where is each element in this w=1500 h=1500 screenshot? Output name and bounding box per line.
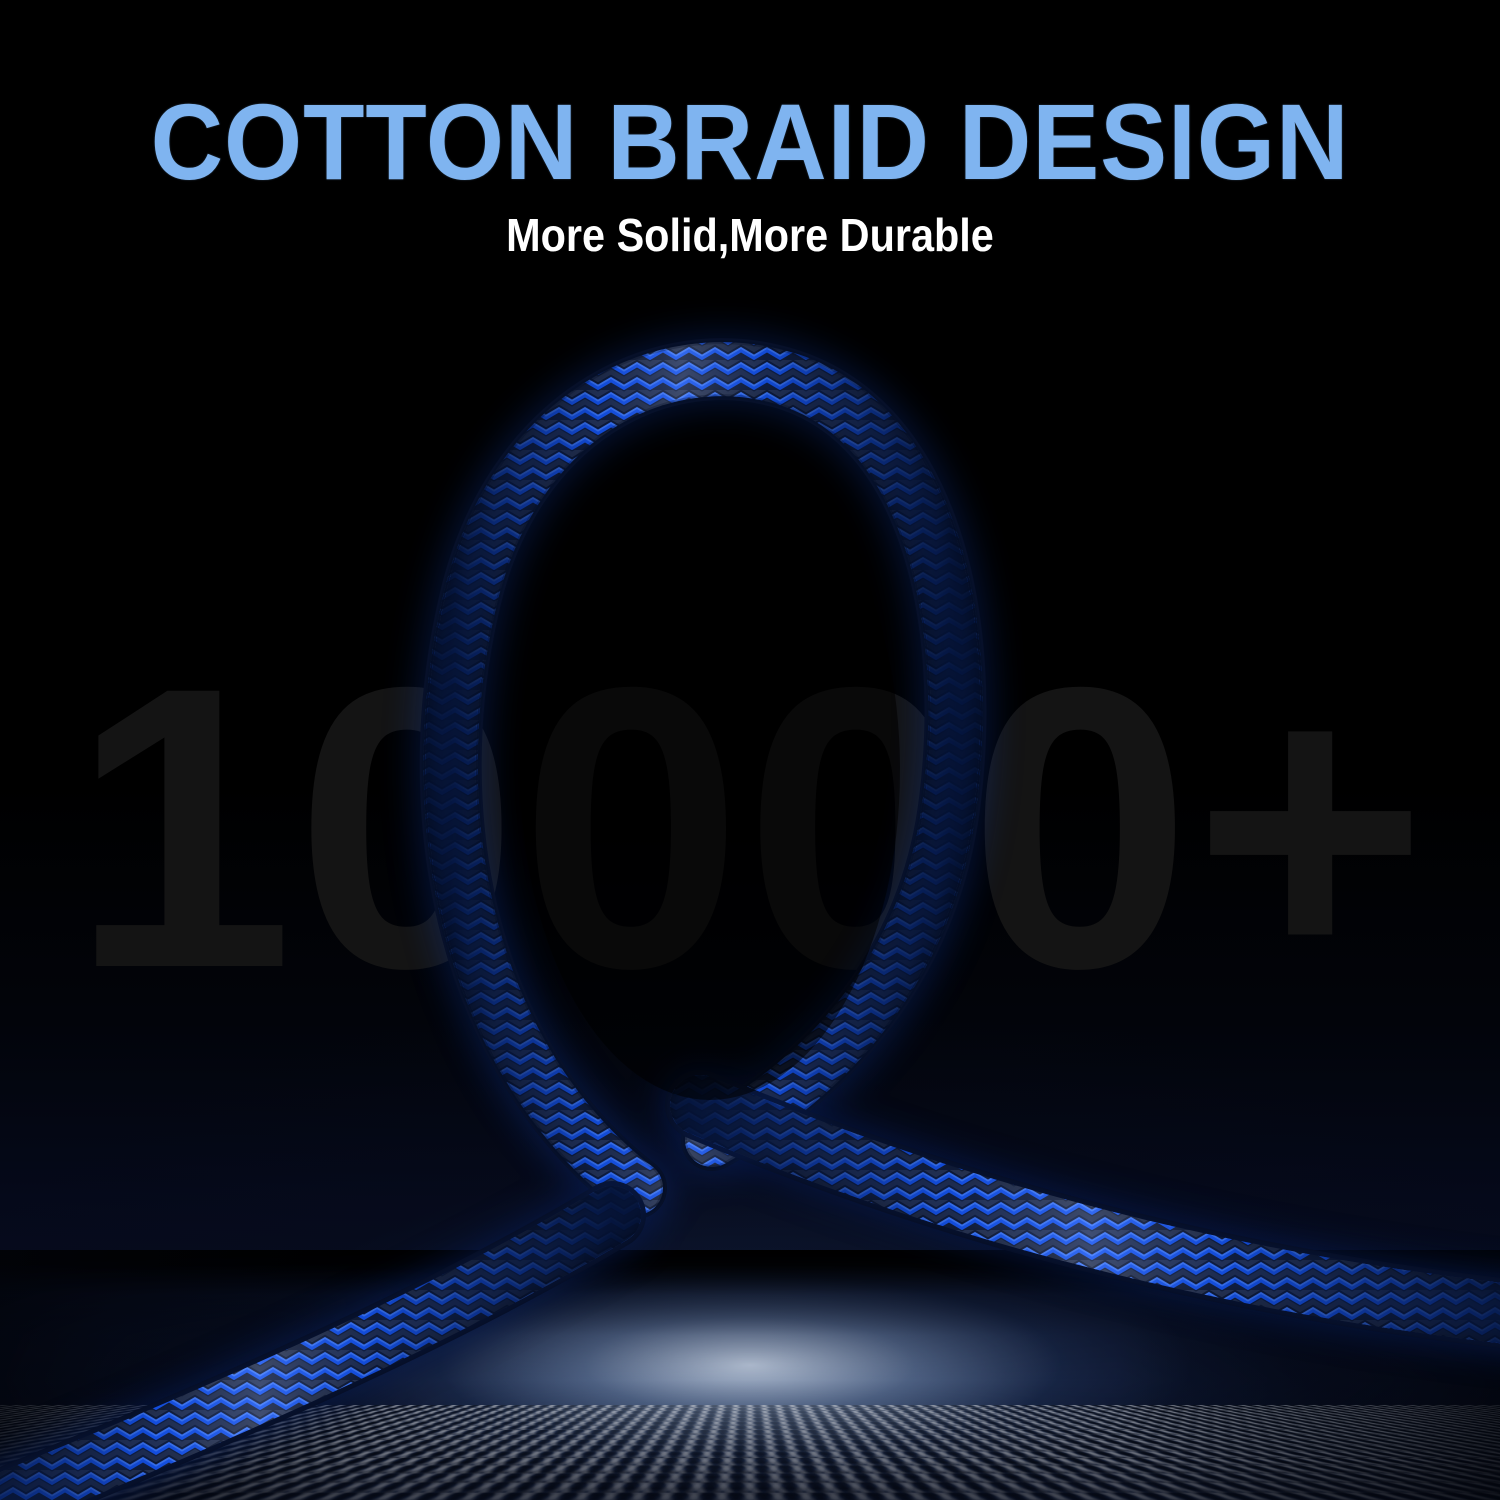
product-feature-banner: 10000+ [0,0,1500,1500]
page-title: COTTON BRAID DESIGN [53,88,1448,196]
page-subtitle: More Solid,More Durable [75,212,1425,258]
loop-interior-shade [520,440,900,1100]
